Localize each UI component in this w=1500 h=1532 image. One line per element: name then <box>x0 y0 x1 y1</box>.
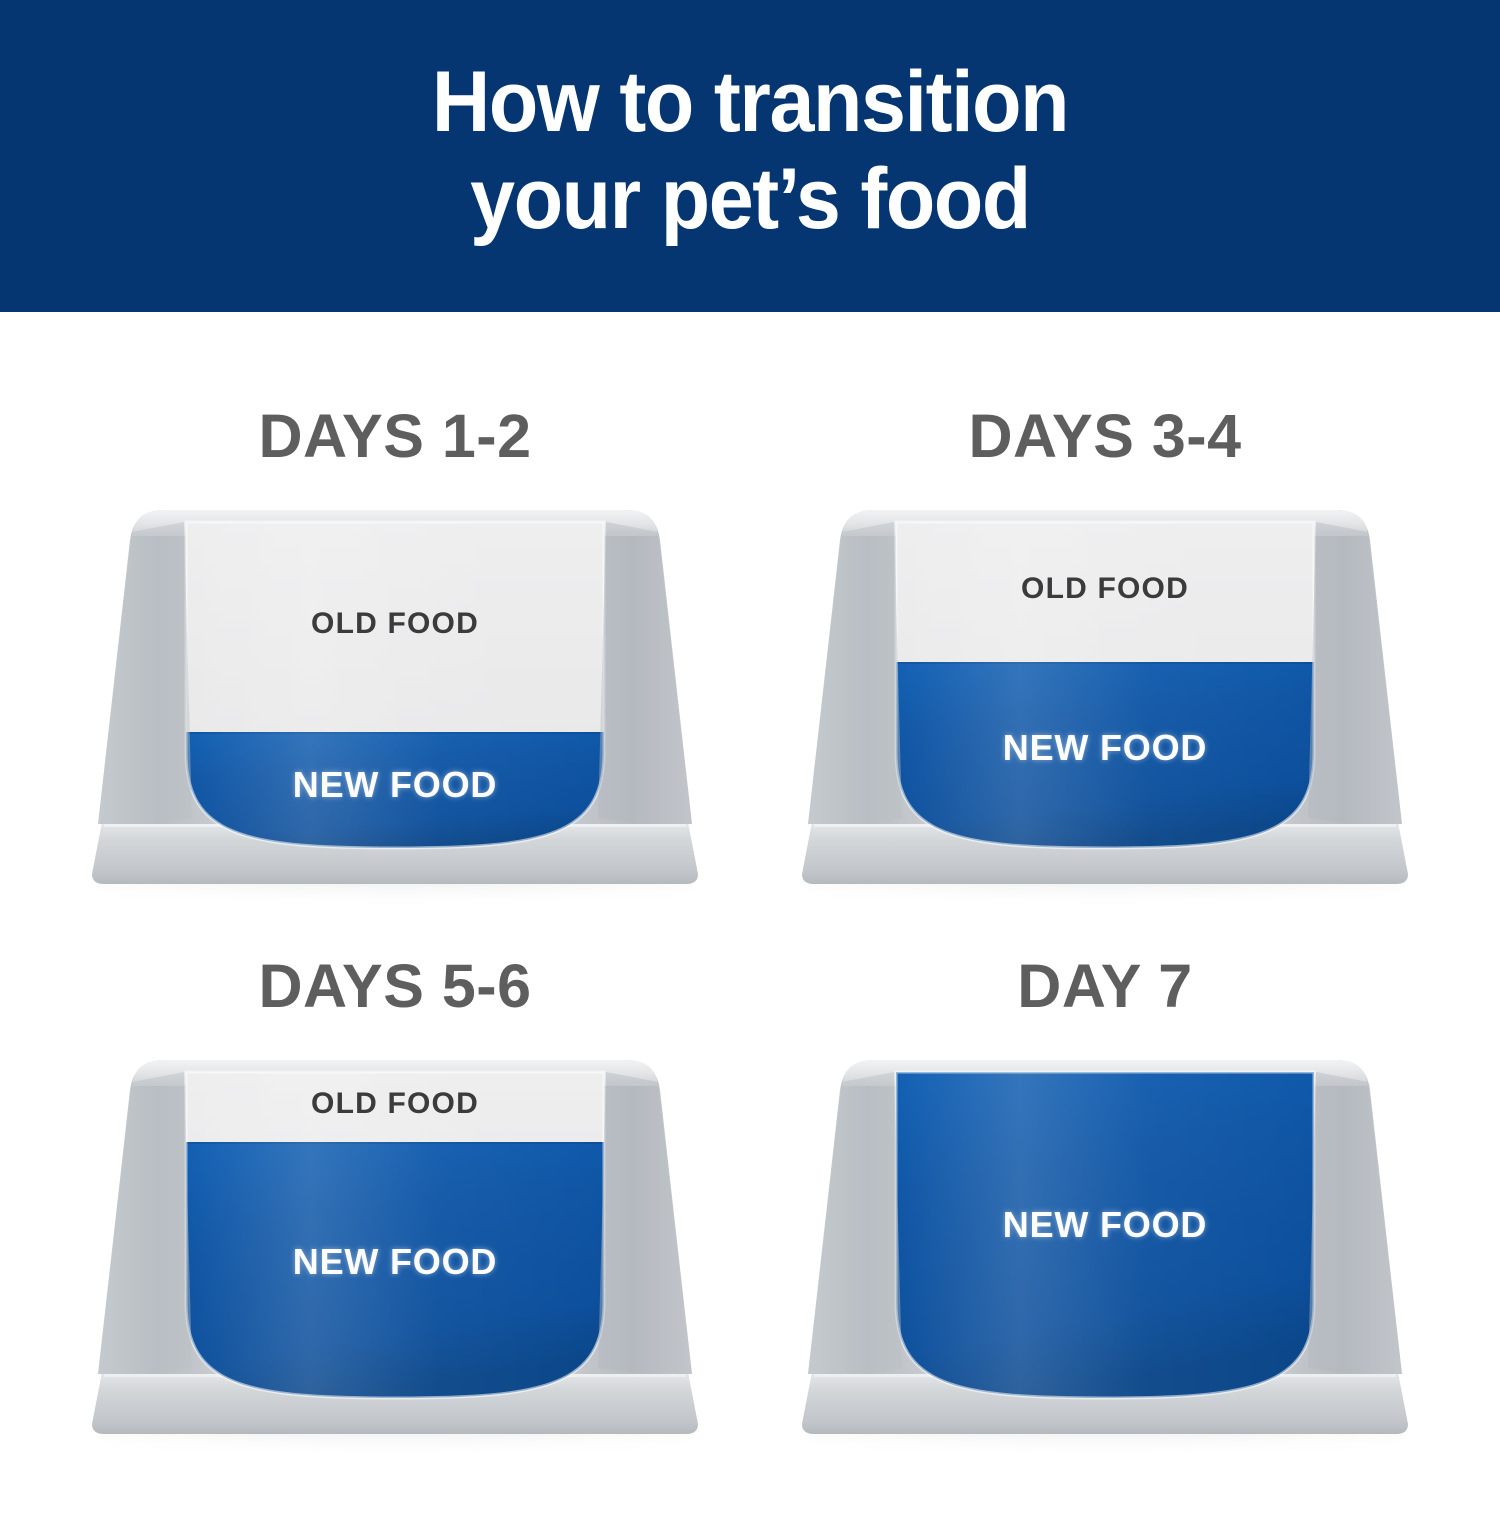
bowl-right-wall-shade <box>598 522 692 824</box>
bowl-left-wall-shade <box>98 1072 192 1374</box>
bowl-cross-section <box>90 492 700 912</box>
bowl-diagram: OLD FOODNEW FOOD <box>800 492 1410 912</box>
bowl-gloss <box>182 518 608 852</box>
panel-heading: DAYS 5-6 <box>20 952 770 1020</box>
header-banner: How to transition your pet’s food <box>0 0 1500 312</box>
panel-heading: DAY 7 <box>730 952 1480 1020</box>
panel-heading: DAYS 1-2 <box>20 402 770 470</box>
page-title: How to transition your pet’s food <box>45 54 1455 248</box>
bowl-left-wall-shade <box>808 1072 902 1374</box>
bowl-cross-section <box>800 492 1410 912</box>
bowl-left-wall-shade <box>808 522 902 824</box>
transition-steps-grid: DAYS 1-2 <box>0 312 1500 1500</box>
bowl-cross-section <box>90 1042 700 1462</box>
bowl-diagram: OLD FOODNEW FOOD <box>90 1042 700 1462</box>
panel-days-5-6: DAYS 5-6 <box>20 952 770 1532</box>
bowl-left-wall-shade <box>98 522 192 824</box>
bowl-diagram: OLD FOODNEW FOOD <box>90 492 700 912</box>
bowl-gloss <box>892 1068 1318 1402</box>
panel-heading: DAYS 3-4 <box>730 402 1480 470</box>
bowl-diagram: NEW FOOD <box>800 1042 1410 1462</box>
infographic-page: How to transition your pet’s food DAYS 1… <box>0 0 1500 1500</box>
panel-days-3-4: DAYS 3-4 <box>730 402 1480 982</box>
panel-days-1-2: DAYS 1-2 <box>20 402 770 982</box>
bowl-gloss <box>182 1068 608 1402</box>
bowl-gloss <box>892 518 1318 852</box>
bowl-right-wall-shade <box>598 1072 692 1374</box>
panel-day-7: DAY 7 <box>730 952 1480 1532</box>
bowl-cross-section <box>800 1042 1410 1462</box>
bowl-right-wall-shade <box>1308 522 1402 824</box>
bowl-right-wall-shade <box>1308 1072 1402 1374</box>
